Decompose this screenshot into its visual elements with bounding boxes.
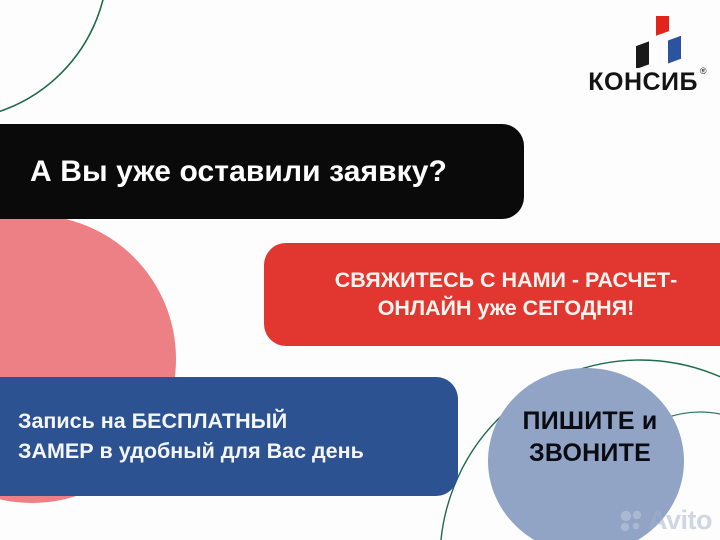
brand-wordmark: КОНСИБ ® [574, 70, 706, 95]
cta-line-2: ЗВОНИТЕ [529, 439, 651, 467]
free-measurement-text: Запись на БЕСПЛАТНЫЙ ЗАМЕР в удобный для… [0, 407, 364, 465]
contact-line-2-online: ОНЛАЙН [378, 296, 478, 320]
mark-blue-diamond [668, 36, 681, 64]
cta-line-1: ПИШИТЕ и [523, 407, 658, 435]
mark-black-diamond [636, 41, 649, 68]
measure-line-1: Запись на БЕСПЛАТНЫЙ [18, 409, 287, 433]
avito-dots-icon [620, 510, 646, 532]
measure-line-2: ЗАМЕР в удобный для Вас день [18, 439, 364, 463]
headline-text: А Вы уже оставили заявку? [0, 155, 447, 189]
call-to-action-text: ПИШИТЕ и ЗВОНИТЕ [492, 405, 688, 469]
headline-banner: А Вы уже оставили заявку? [0, 124, 524, 219]
green-circle-top-left [0, 0, 108, 120]
avito-wordmark: Avito [648, 507, 712, 534]
free-measurement-banner: Запись на БЕСПЛАТНЫЙ ЗАМЕР в удобный для… [0, 377, 458, 496]
contact-line-1: СВЯЖИТЕСЬ С НАМИ - РАСЧЕТ- [335, 268, 677, 292]
registered-trademark-icon: ® [700, 67, 707, 76]
brand-logo: КОНСИБ ® [574, 16, 706, 95]
contact-line-2-today: СЕГОДНЯ! [523, 296, 635, 320]
avito-watermark: Avito [620, 507, 712, 534]
brand-name-text: КОНСИБ [588, 68, 698, 96]
contact-line-2-already: уже [478, 296, 523, 320]
advertisement-canvas: КОНСИБ ® А Вы уже оставили заявку? СВЯЖИ… [0, 0, 720, 540]
contact-banner: СВЯЖИТЕСЬ С НАМИ - РАСЧЕТ- ОНЛАЙН уже СЕ… [264, 243, 720, 346]
contact-text: СВЯЖИТЕСЬ С НАМИ - РАСЧЕТ- ОНЛАЙН уже СЕ… [288, 267, 718, 322]
konsib-isometric-mark [628, 16, 688, 68]
mark-red-diamond [656, 16, 669, 36]
